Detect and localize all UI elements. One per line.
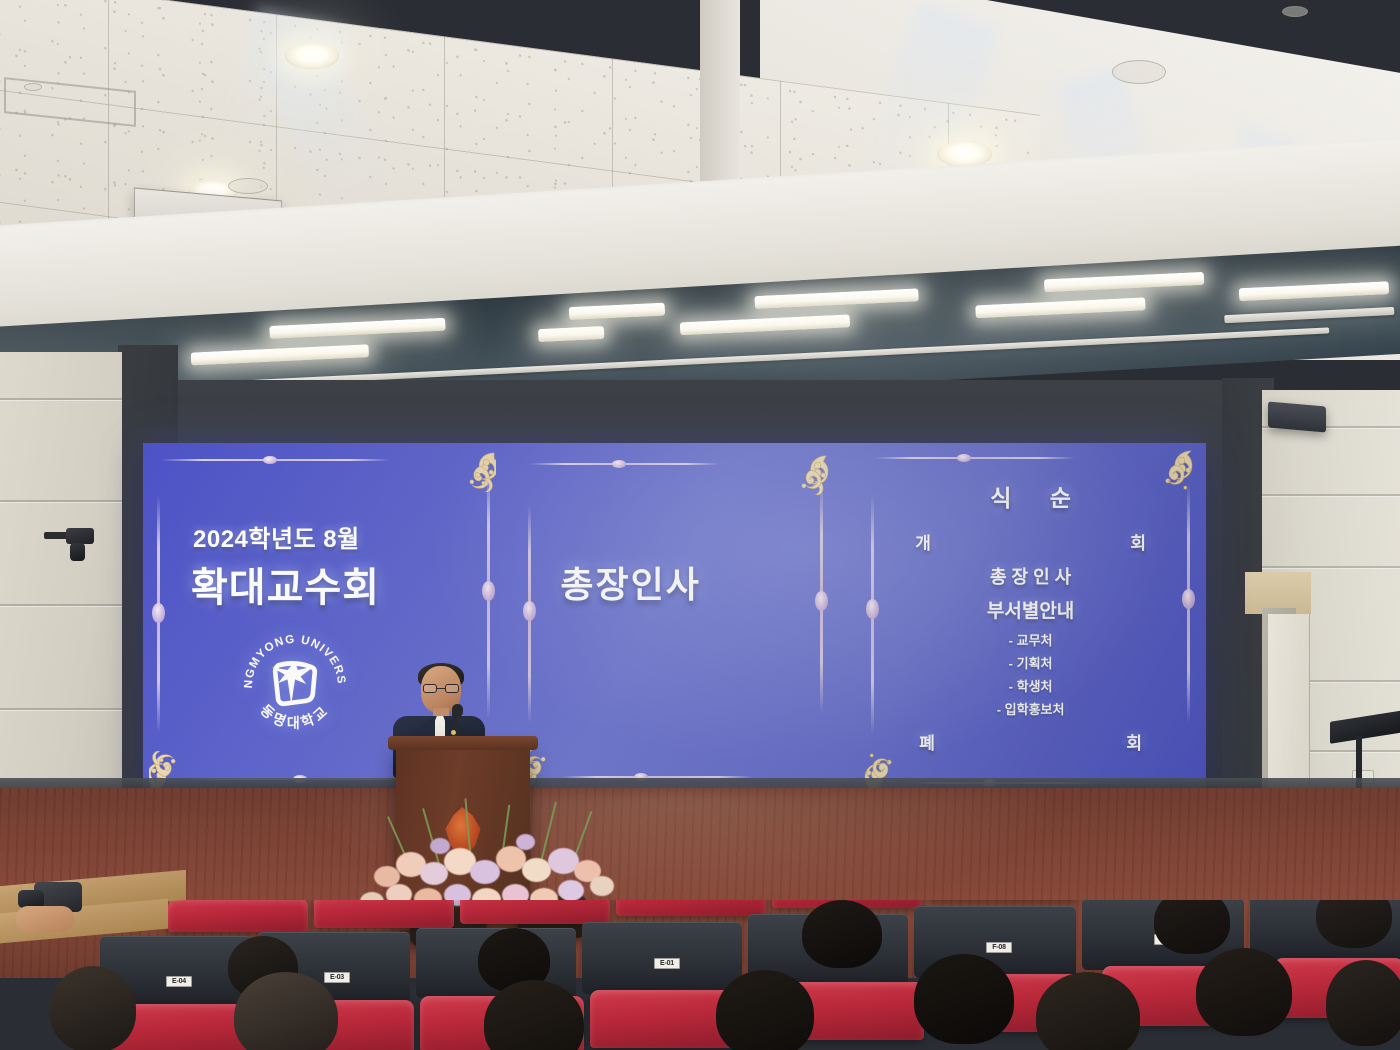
lectern-stand-top [1330,710,1400,744]
agenda-item-presidents-address: 총 장 인 사 [903,563,1158,589]
soffit-rail [1224,307,1394,323]
linear-light-fixture [1044,272,1204,293]
wall-panel-seam [0,398,122,400]
wall-mounted-loudspeaker [1268,401,1326,432]
ceiling-sprinkler [1282,6,1308,17]
ornament-bead [523,601,536,621]
lectern-top-surface [388,736,538,750]
seat-number-plate: F-08 [986,942,1012,953]
screen-panel-right: 식 순 개 회 총 장 인 사 부서별안내 - 교무처 - 기획처 - 학생처 … [855,443,1206,800]
agenda-item-close-left: 폐 [919,729,935,754]
ornament-bead [152,603,165,623]
agenda-heading: 식 순 [903,479,1158,513]
screen-panel-center: 총장인사 [504,443,855,800]
audience-head [1154,900,1230,954]
linear-light-fixture [680,314,850,335]
ceiling-downlight [285,43,339,69]
linear-light-fixture [975,297,1145,318]
audience-head [716,970,814,1050]
linear-light-fixture [191,344,369,365]
screen-event-title: 확대교수회 [191,555,380,613]
audience-seat[interactable] [460,900,610,924]
audience-head [914,954,1014,1044]
agenda-item-department-guide: 부서별안내 [903,596,1158,623]
flower-bloom [522,858,551,882]
linear-light-fixture [538,326,605,342]
linear-light-fixture [754,288,918,309]
ornament-rule [875,457,1075,459]
agenda-subitem-academic-affairs: - 교무처 [903,630,1158,649]
agenda-item-close: 폐 회 [903,729,1158,754]
wall-panel-seam [0,708,122,710]
eyeglasses-icon [423,684,459,693]
screen-center-heading: 총장인사 [560,556,700,608]
audience-head [802,900,882,968]
camera-lens-icon [70,543,85,561]
flower-bloom [558,880,584,901]
ceiling-diffuser [1112,60,1166,84]
audience-head [1316,900,1392,948]
agenda-subitem-planning: - 기획처 [903,653,1158,672]
audience-seating: E-04 E-03 E-02 E-01 F-08 F-07 [0,900,1400,1050]
seat-number-plate: E-04 [166,976,192,987]
tongmyong-university-emblem-icon: TONGMYONG UNIVERSITY 동명대학교 [239,628,351,740]
wall-panel-seam [0,500,122,502]
agenda-item-open-right: 회 [1130,529,1146,554]
audience-seat[interactable] [616,900,766,916]
audience-head [50,966,136,1050]
operator-hand [16,906,74,932]
agenda-item-close-right: 회 [1126,729,1142,754]
agenda-block: 식 순 개 회 총 장 인 사 부서별안내 - 교무처 - 기획처 - 학생처 … [855,479,1206,754]
agenda-item-open-left: 개 [915,529,931,554]
ornament-bead [482,581,495,601]
ceiling-diffuser [228,178,268,194]
screen-year-line: 2024학년도 8월 [193,519,360,554]
wall-panel-seam [0,604,122,606]
wall-panel-seam [1262,566,1400,568]
ornament-bead [815,591,828,611]
wall-panel-seam [1262,494,1400,496]
camera-operator [16,872,94,934]
flower-bloom [470,860,500,884]
ornament-bead [612,460,626,468]
ornament-bead [263,456,277,464]
agenda-item-open: 개 회 [903,529,1158,554]
auditorium-scene: 2024학년도 8월 확대교수회 TONGMYONG UNIVERSITY 동명… [0,0,1400,1050]
linear-light-fixture [1239,281,1389,301]
ornament-bead [957,454,971,462]
wall-mounted-camera [44,528,96,562]
agenda-subitem-admissions-pr: - 입학홍보처 [903,699,1158,718]
seat-number-plate: E-03 [324,972,350,983]
svg-text:동명대학교: 동명대학교 [258,701,333,730]
audience-seat[interactable] [168,900,308,932]
agenda-subitem-student-affairs: - 학생처 [903,676,1158,695]
audience-seat[interactable] [314,900,454,928]
flower-bloom [430,838,450,854]
camera-body [66,528,94,544]
seat-number-plate: E-01 [654,958,680,969]
led-presentation-screen: 2024학년도 8월 확대교수회 TONGMYONG UNIVERSITY 동명… [143,443,1206,800]
microphone-capsule-icon [452,704,463,717]
audience-head [1326,960,1400,1046]
linear-light-fixture [569,303,666,321]
flower-bloom [590,876,614,896]
flower-bloom [516,834,535,850]
linear-light-fixture [269,318,445,339]
audience-head [1196,948,1292,1036]
